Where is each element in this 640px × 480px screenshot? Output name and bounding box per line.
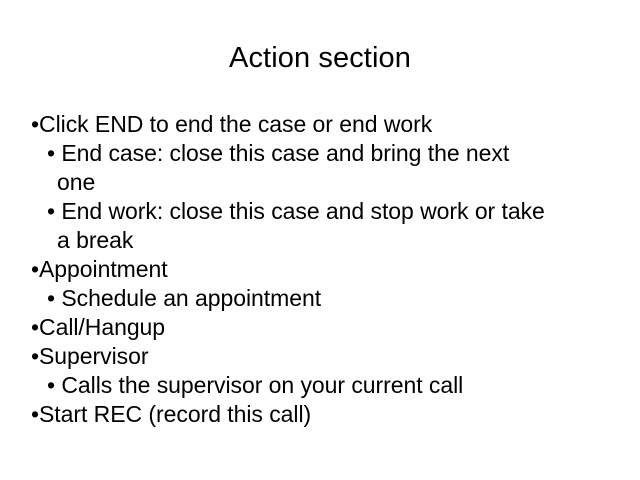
list-item-label: Schedule an appointment (61, 285, 321, 311)
list-item-label: Supervisor (39, 343, 148, 369)
list-item: •Supervisor (31, 342, 623, 371)
list-item-label: Click END to end the case or end work (39, 111, 432, 137)
list-item-label: a break (57, 227, 133, 253)
list-item-label: one (57, 169, 95, 195)
bullet-icon: • (47, 198, 61, 224)
list-item: •Call/Hangup (31, 313, 623, 342)
bullet-icon: • (31, 401, 39, 427)
list-item: •Start REC (record this call) (31, 400, 623, 429)
bullet-icon: • (31, 111, 39, 137)
list-item-label: Start REC (record this call) (39, 401, 311, 427)
list-item-label: Call/Hangup (39, 314, 165, 340)
list-item: •Appointment (31, 255, 623, 284)
list-item-label: Appointment (39, 256, 168, 282)
list-item: • Calls the supervisor on your current c… (47, 371, 623, 400)
bullet-icon: • (31, 256, 39, 282)
bullet-icon: • (31, 343, 39, 369)
list-item: • End case: close this case and bring th… (47, 139, 623, 168)
bullet-icon: • (47, 140, 61, 166)
list-item: •Click END to end the case or end work (31, 110, 623, 139)
list-item: • End work: close this case and stop wor… (47, 197, 623, 226)
bullet-icon: • (47, 372, 61, 398)
page-title: Action section (0, 41, 640, 75)
slide-canvas: Action section •Click END to end the cas… (0, 0, 640, 480)
bullet-icon: • (47, 285, 61, 311)
list-item: • Schedule an appointment (47, 284, 623, 313)
list-item-label: End work: close this case and stop work … (61, 198, 544, 224)
bullet-list: •Click END to end the case or end work• … (31, 110, 623, 429)
bullet-continuation-line: one (57, 168, 623, 197)
bullet-continuation-line: a break (57, 226, 623, 255)
list-item-label: Calls the supervisor on your current cal… (61, 372, 463, 398)
list-item-label: End case: close this case and bring the … (61, 140, 509, 166)
bullet-icon: • (31, 314, 39, 340)
